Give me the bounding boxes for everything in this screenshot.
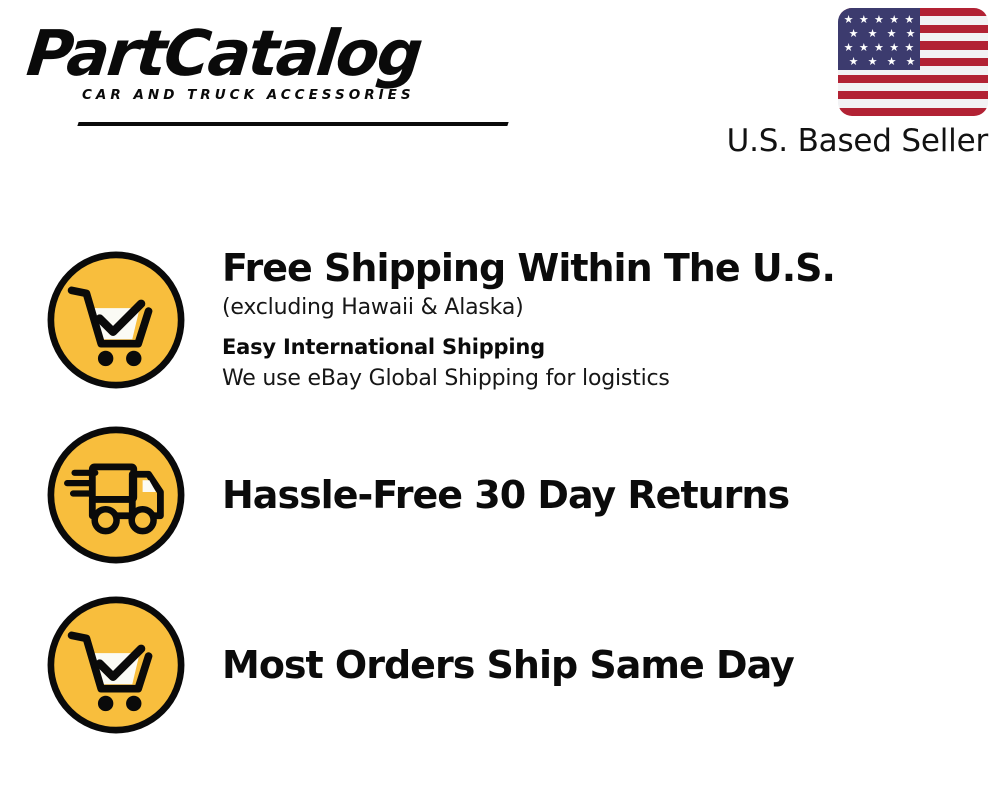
flag-star: ★ bbox=[904, 14, 914, 25]
flag-star: ★ bbox=[906, 28, 916, 39]
feature-title: Free Shipping Within The U.S. bbox=[222, 245, 1000, 291]
feature-row: Most Orders Ship Same Day bbox=[0, 585, 1000, 745]
feature-text: Most Orders Ship Same Day bbox=[222, 585, 1000, 745]
feature-row: Hassle-Free 30 Day Returns bbox=[0, 415, 1000, 575]
flag-star-row: ★ ★ ★ ★ ★ bbox=[838, 8, 920, 26]
flag-star: ★ bbox=[849, 28, 859, 39]
flag-star-row: ★ ★ ★ ★ bbox=[838, 26, 920, 40]
feature-title: Most Orders Ship Same Day bbox=[222, 642, 794, 688]
flag-star: ★ bbox=[844, 14, 854, 25]
flag-star: ★ bbox=[868, 28, 878, 39]
flag-star: ★ bbox=[906, 56, 916, 67]
flag-star: ★ bbox=[904, 42, 914, 53]
feature-text: Free Shipping Within The U.S. (excluding… bbox=[222, 245, 1000, 395]
flag-star: ★ bbox=[874, 14, 884, 25]
feature-row: Free Shipping Within The U.S. (excluding… bbox=[0, 240, 1000, 400]
flag-stripe bbox=[838, 108, 988, 116]
page-header: PartCatalog CAR AND TRUCK ACCESSORIES bbox=[0, 0, 1000, 180]
feature-note: (excluding Hawaii & Alaska) bbox=[222, 291, 1000, 325]
delivery-truck-icon bbox=[42, 418, 190, 572]
feature-title: Hassle-Free 30 Day Returns bbox=[222, 472, 789, 518]
feature-text: Hassle-Free 30 Day Returns bbox=[222, 415, 1000, 575]
flag-stripe bbox=[838, 99, 988, 107]
flag-stripe bbox=[838, 83, 988, 91]
flag-star: ★ bbox=[887, 56, 897, 67]
brand-tagline: CAR AND TRUCK ACCESSORIES bbox=[82, 88, 494, 103]
us-based-seller-label: U.S. Based Seller bbox=[698, 123, 988, 159]
flag-star: ★ bbox=[859, 42, 869, 53]
flag-star: ★ bbox=[889, 14, 899, 25]
flag-star-row: ★ ★ ★ ★ ★ bbox=[838, 40, 920, 54]
flag-stripe bbox=[838, 91, 988, 99]
brand-underline bbox=[77, 122, 508, 126]
brand-wordmark: PartCatalog bbox=[24, 22, 501, 86]
flag-star: ★ bbox=[868, 56, 878, 67]
shopping-cart-check-icon bbox=[42, 588, 190, 742]
shopping-cart-check-icon bbox=[42, 243, 190, 397]
flag-star-row: ★ ★ ★ ★ bbox=[838, 54, 920, 68]
flag-canton: ★ ★ ★ ★ ★ ★ ★ ★ ★ ★ ★ ★ ★ ★ bbox=[838, 8, 920, 70]
brand-logo: PartCatalog CAR AND TRUCK ACCESSORIES bbox=[24, 22, 494, 103]
flag-star: ★ bbox=[859, 14, 869, 25]
flag-star: ★ bbox=[844, 42, 854, 53]
flag-star: ★ bbox=[887, 28, 897, 39]
feature-subnote: We use eBay Global Shipping for logistic… bbox=[222, 363, 1000, 395]
feature-subtitle: Easy International Shipping bbox=[222, 331, 1000, 363]
us-flag-icon: ★ ★ ★ ★ ★ ★ ★ ★ ★ ★ ★ ★ ★ ★ bbox=[838, 8, 988, 116]
flag-stripe bbox=[838, 75, 988, 83]
flag-star: ★ bbox=[874, 42, 884, 53]
us-based-seller-badge: ★ ★ ★ ★ ★ ★ ★ ★ ★ ★ ★ ★ ★ ★ bbox=[698, 8, 988, 159]
flag-star: ★ bbox=[889, 42, 899, 53]
flag-star: ★ bbox=[849, 56, 859, 67]
